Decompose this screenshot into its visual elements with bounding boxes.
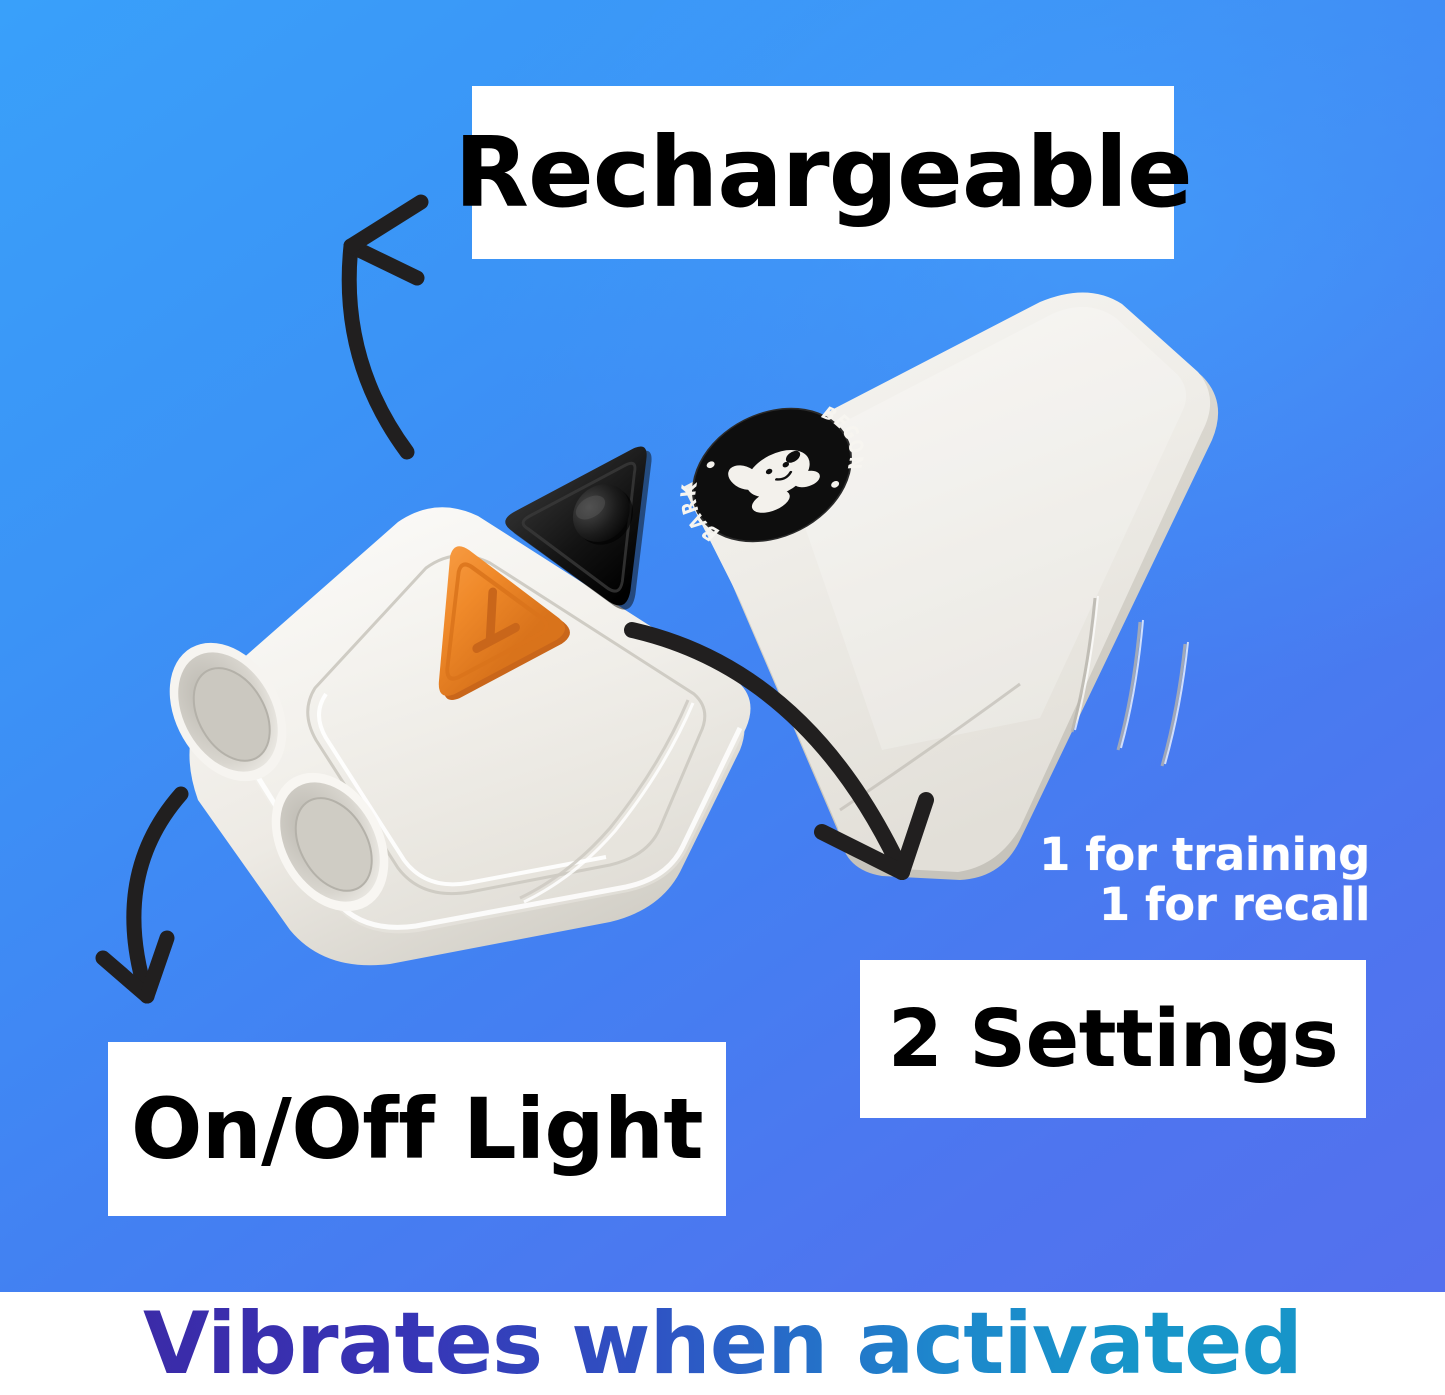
bottom-banner-text: Vibrates when activated (143, 1301, 1302, 1387)
settings-subtext-line-1: 1 for training (955, 830, 1370, 880)
callout-two-settings: 2 Settings (860, 960, 1366, 1118)
callout-on-off-light-label: On/Off Light (131, 1087, 703, 1171)
callout-on-off-light: On/Off Light (108, 1042, 726, 1216)
curved-arrow-up-left-icon (325, 160, 465, 460)
callout-two-settings-label: 2 Settings (888, 1000, 1338, 1079)
infographic-canvas: BARK BEGONE (0, 0, 1445, 1395)
callout-rechargeable-label: Rechargeable (454, 124, 1191, 221)
callout-rechargeable: Rechargeable (472, 86, 1174, 259)
curved-arrow-down-right-icon (608, 600, 958, 912)
bottom-banner: Vibrates when activated (0, 1292, 1445, 1395)
settings-subtext-line-2: 1 for recall (955, 880, 1370, 930)
callout-settings-subtext: 1 for training 1 for recall (955, 830, 1370, 931)
curved-arrow-down-icon (95, 780, 240, 1025)
